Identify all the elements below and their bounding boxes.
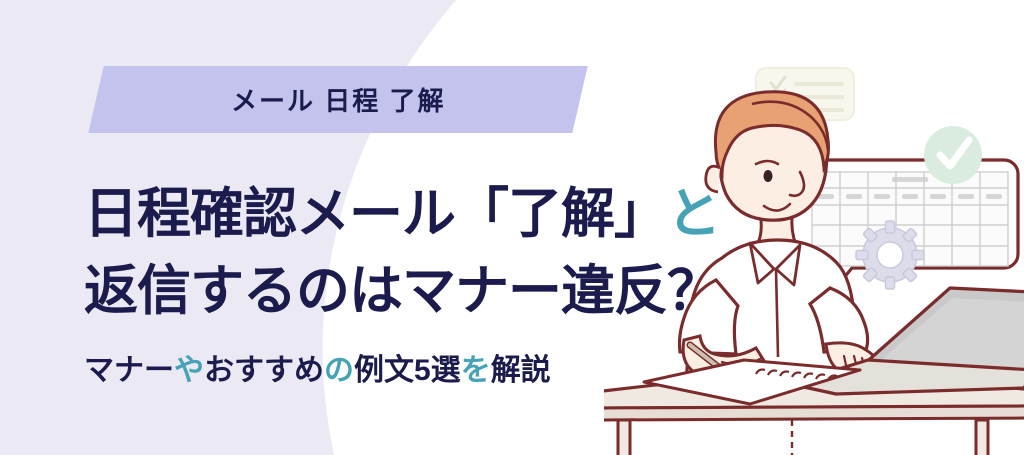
- page-subtitle-accent-wo: を: [461, 354, 491, 387]
- tag-banner-label: メール 日程 了解: [231, 81, 445, 118]
- check-circle-icon: [924, 126, 982, 184]
- page-subtitle-seg-3: おすすめ: [204, 354, 324, 387]
- page-subtitle-accent-no: の: [324, 354, 354, 387]
- page-title-line-1: 日程確認メール「了解」と: [84, 176, 720, 253]
- page-title-line-1-text: 日程確認メール「了解」: [84, 184, 667, 244]
- page-subtitle-accent-ya: や: [174, 354, 204, 387]
- page-subtitle-seg-1: マナー: [84, 354, 174, 387]
- page-title: 日程確認メール「了解」と 返信するのはマナー違反？: [84, 176, 720, 329]
- page-title-line-2: 返信するのはマナー違反？: [84, 253, 720, 330]
- hero-banner: メール 日程 了解 日程確認メール「了解」と 返信するのはマナー違反？ マナーや…: [0, 0, 1024, 455]
- gear-icon: [856, 221, 924, 289]
- page-subtitle-seg-7: 解説: [491, 354, 551, 387]
- page-subtitle: マナーやおすすめの例文5選を解説: [84, 345, 551, 389]
- page-title-accent-to: と: [667, 184, 720, 244]
- page-subtitle-seg-5: 例文5選: [354, 354, 461, 387]
- tag-banner: メール 日程 了解: [88, 66, 587, 133]
